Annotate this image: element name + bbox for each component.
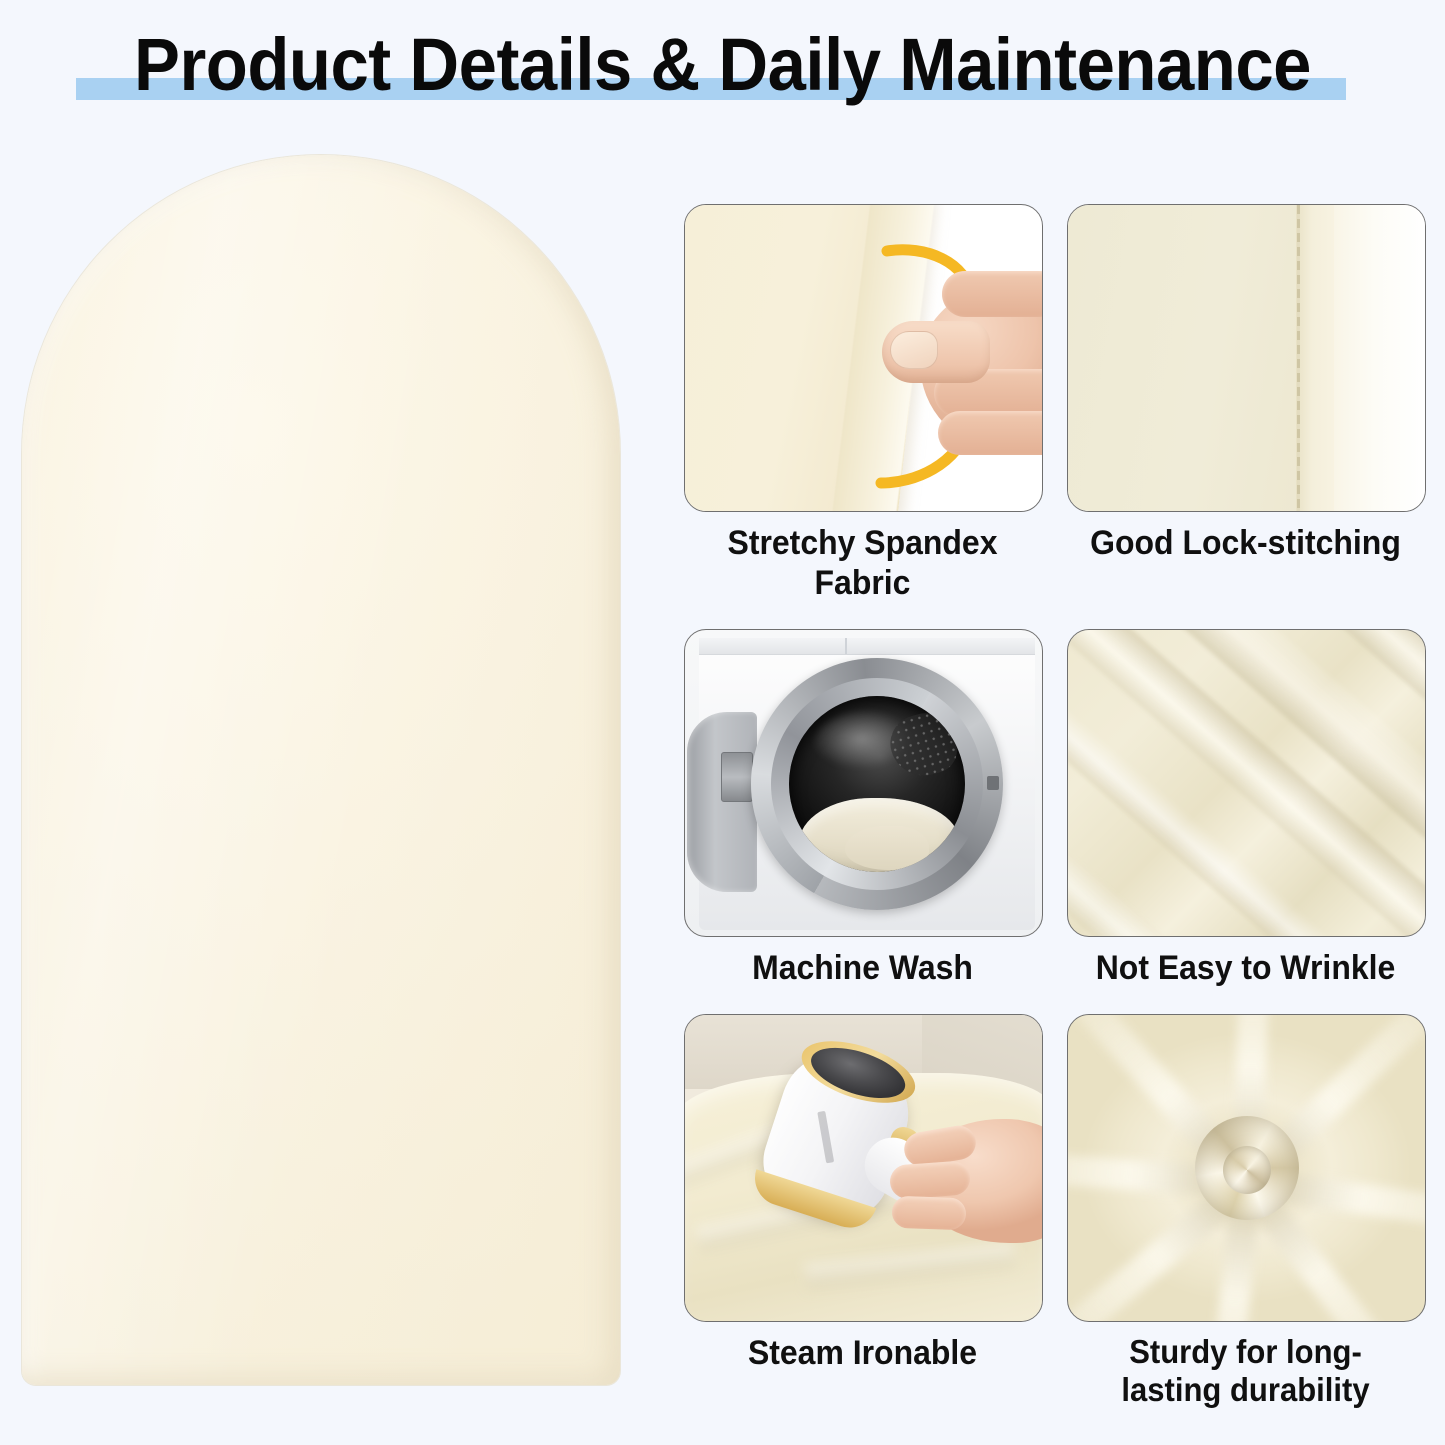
washer-door-ring-outer [751, 658, 1003, 910]
feature-label-sturdy-long-lasting: Sturdy for long- lasting durability [1078, 1333, 1414, 1409]
feature-row-2: Machine Wash Not Easy to Wrinkle [684, 629, 1424, 988]
feature-label-line-1: Sturdy for long- [1078, 1333, 1414, 1371]
product-hero-image [0, 130, 645, 1380]
feature-image-good-lock-stitching [1067, 204, 1426, 512]
fabric-panel-left [1068, 205, 1300, 511]
washer-door-open [687, 712, 757, 892]
feature-row-1: Stretchy Spandex Fabric Good Lock-stitch… [684, 204, 1424, 603]
feature-label-line-2: lasting durability [1078, 1371, 1414, 1409]
feature-cell-not-easy-to-wrinkle: Not Easy to Wrinkle [1067, 629, 1424, 988]
arch-sheen-overlay [22, 155, 620, 1385]
finger-ring [891, 1196, 966, 1231]
washer-drum [789, 696, 965, 872]
fabric-swirl-inner [1223, 1146, 1271, 1194]
washer-door-ring-inner [771, 678, 983, 890]
feature-label-steam-ironable: Steam Ironable [695, 1333, 1031, 1373]
feature-image-stretchy-spandex-fabric [684, 204, 1043, 512]
arch-backdrop-cover-shape [22, 155, 620, 1385]
feature-image-not-easy-to-wrinkle [1067, 629, 1426, 937]
washer-door-latch [987, 776, 999, 790]
hand-pinching-fabric [876, 265, 1043, 465]
feature-cell-sturdy-long-lasting: Sturdy for long- lasting durability [1067, 1014, 1424, 1409]
feature-image-sturdy-long-lasting [1067, 1014, 1426, 1322]
feature-cell-steam-ironable: Steam Ironable [684, 1014, 1041, 1409]
stitch-line [1297, 205, 1300, 511]
feature-cell-stretchy-spandex-fabric: Stretchy Spandex Fabric [684, 204, 1041, 603]
finger-middle [889, 1160, 971, 1199]
thumbnail [890, 331, 938, 369]
fabric-seam-fold [1296, 205, 1336, 511]
hand-holding-steamer [884, 1119, 1043, 1249]
feature-image-steam-ironable [684, 1014, 1043, 1322]
feature-cell-good-lock-stitching: Good Lock-stitching [1067, 204, 1424, 603]
fabric-panel-right [1334, 205, 1425, 511]
page-header: Product Details & Daily Maintenance [0, 22, 1445, 122]
finger-index [942, 271, 1043, 317]
washer-door-hinge [721, 752, 753, 802]
arch-edge-shading [22, 155, 620, 1385]
feature-grid: Stretchy Spandex Fabric Good Lock-stitch… [684, 204, 1424, 1435]
finger-ring [938, 411, 1043, 455]
washer-control-panel [699, 638, 1035, 655]
feature-label-stretchy-spandex-fabric: Stretchy Spandex Fabric [695, 523, 1031, 603]
feature-label-good-lock-stitching: Good Lock-stitching [1078, 523, 1414, 563]
washer-panel-seam [845, 638, 847, 654]
page-title: Product Details & Daily Maintenance [51, 22, 1395, 108]
feature-label-not-easy-to-wrinkle: Not Easy to Wrinkle [1078, 948, 1414, 988]
feature-row-3: Steam Ironable Sturdy for long- lasting … [684, 1014, 1424, 1409]
feature-image-machine-wash [684, 629, 1043, 937]
laundry-fabric-fold [845, 826, 929, 870]
feature-label-machine-wash: Machine Wash [695, 948, 1031, 988]
feature-cell-machine-wash: Machine Wash [684, 629, 1041, 988]
